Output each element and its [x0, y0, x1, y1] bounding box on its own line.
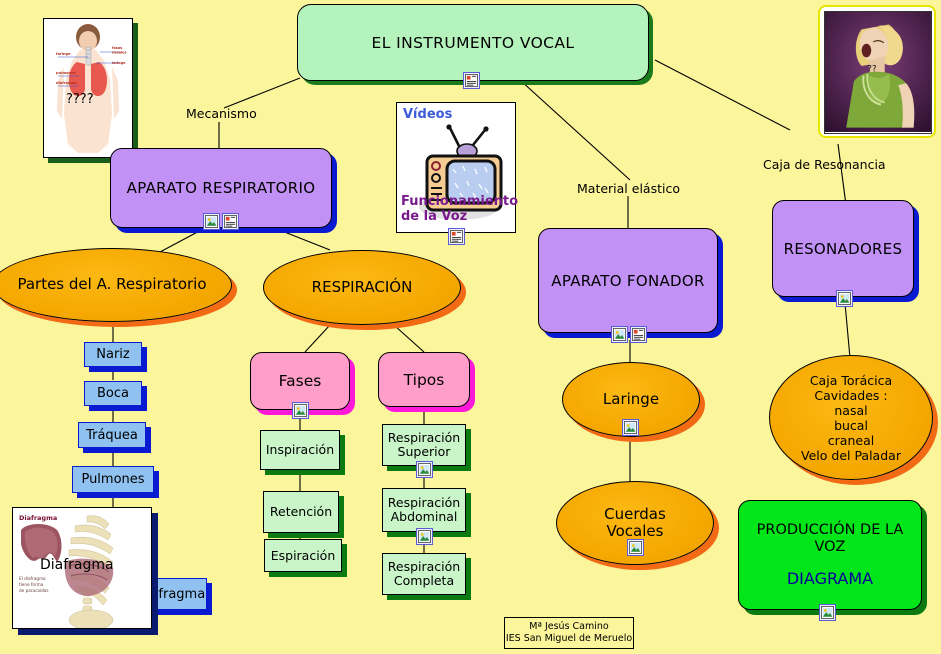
- video-card[interactable]: [396, 102, 516, 233]
- node-el-instrumento-vocal[interactable]: EL INSTRUMENTO VOCAL: [297, 4, 649, 81]
- node-resonadores[interactable]: RESONADORES: [772, 200, 914, 297]
- svg-text:??: ??: [867, 65, 876, 75]
- node-label-line2: Vocales: [607, 523, 664, 540]
- note-icon[interactable]: [630, 326, 647, 343]
- node-aparato-fonador[interactable]: APARATO FONADOR: [538, 228, 718, 333]
- caja-line-4: bucal: [834, 418, 868, 433]
- picture-icon[interactable]: [622, 419, 639, 436]
- node-espiracion[interactable]: Espiración: [264, 539, 342, 572]
- node-produccion-de-la-voz[interactable]: PRODUCCIÓN DE LA VOZ DIAGRAMA: [738, 500, 922, 610]
- note-icon[interactable]: [448, 228, 465, 245]
- node-label: APARATO RESPIRATORIO: [127, 179, 316, 197]
- picture-icon[interactable]: [416, 528, 433, 545]
- svg-text:pulmones: pulmones: [56, 71, 76, 75]
- svg-text:Diafragma: Diafragma: [19, 514, 57, 522]
- respiratory-system-drawing: faringe pulmones diafragma fosas nasales…: [44, 19, 132, 157]
- node-label: Laringe: [603, 391, 659, 408]
- node-label-line1: Respiración: [388, 431, 460, 445]
- node-label: RESONADORES: [784, 240, 903, 258]
- video-resource-icons[interactable]: [448, 228, 465, 245]
- picture-icon[interactable]: [203, 213, 220, 230]
- picture-icon[interactable]: [836, 290, 853, 307]
- node-inspiracion[interactable]: Inspiración: [260, 430, 340, 470]
- resonadores-resource-icons[interactable]: [836, 290, 853, 307]
- node-traquea[interactable]: Tráquea: [78, 422, 146, 448]
- node-label: Fases: [279, 372, 322, 390]
- produccion-subtitle: DIAGRAMA: [787, 569, 873, 589]
- node-label: Tipos: [404, 371, 445, 389]
- picture-icon[interactable]: [416, 461, 433, 478]
- node-label: Pulmones: [81, 472, 144, 487]
- node-label-line2: Superior: [398, 445, 451, 459]
- singing-woman-illustration: ??: [825, 12, 931, 132]
- author-credit: Mª Jesús Camino IES San Miguel de Meruel…: [504, 617, 634, 649]
- picture-icon[interactable]: [292, 402, 309, 419]
- node-label: Espiración: [271, 549, 336, 563]
- node-pulmones[interactable]: Pulmones: [72, 466, 154, 493]
- svg-text:El diafragma: El diafragma: [19, 576, 46, 581]
- node-label: Retención: [270, 505, 332, 519]
- portrait-frame: ??: [824, 11, 932, 134]
- picture-icon[interactable]: [627, 539, 644, 556]
- node-tipos[interactable]: Tipos: [378, 352, 470, 407]
- diaphragm-overlay-text: Diafragma: [40, 557, 114, 573]
- laringe-resource-icons[interactable]: [622, 419, 639, 436]
- svg-text:nasales: nasales: [112, 51, 127, 55]
- node-label-line2: Completa: [394, 574, 454, 588]
- node-respiracion[interactable]: RESPIRACIÓN: [263, 250, 461, 325]
- tv-graphic: [397, 103, 515, 232]
- caja-line-5: craneal: [828, 433, 874, 448]
- caja-line-1: Caja Torácica: [810, 373, 892, 388]
- caja-line-3: nasal: [834, 403, 867, 418]
- aparato-respiratorio-resource-icons[interactable]: [203, 213, 239, 230]
- caja-line-2: Cavidades :: [814, 388, 887, 403]
- node-label: RESPIRACIÓN: [312, 279, 413, 296]
- produccion-resource-icons[interactable]: [819, 604, 836, 621]
- node-caja-toracica-cavidades[interactable]: Caja Torácica Cavidades : nasal bucal cr…: [769, 355, 933, 480]
- node-respiracion-abdominal[interactable]: Respiración Abdominal: [382, 488, 466, 532]
- node-label-line1: Respiración: [388, 496, 460, 510]
- credit-line2: IES San Miguel de Meruelo: [506, 633, 632, 645]
- fases-resource-icons[interactable]: [292, 402, 309, 419]
- node-label: Partes del A. Respiratorio: [17, 276, 206, 293]
- svg-text:de paracaídas: de paracaídas: [19, 588, 49, 593]
- node-title-label: EL INSTRUMENTO VOCAL: [372, 34, 575, 52]
- note-icon[interactable]: [222, 213, 239, 230]
- edge-label-mecanismo: Mecanismo: [186, 106, 257, 121]
- node-boca[interactable]: Boca: [84, 381, 142, 406]
- node-nariz[interactable]: Nariz: [84, 342, 142, 367]
- svg-text:fosas: fosas: [112, 46, 122, 50]
- credit-line1: Mª Jesús Camino: [529, 621, 608, 633]
- node-respiracion-completa[interactable]: Respiración Completa: [382, 553, 466, 595]
- singing-woman-portrait[interactable]: ??: [818, 5, 936, 138]
- picture-icon[interactable]: [819, 604, 836, 621]
- respiratory-system-image[interactable]: faringe pulmones diafragma fosas nasales…: [43, 18, 133, 158]
- node-label: Nariz: [96, 347, 129, 362]
- node-label: Boca: [97, 386, 129, 401]
- svg-text:tiene forma: tiene forma: [19, 582, 44, 587]
- respiracion-abdominal-resource-icons[interactable]: [416, 528, 433, 545]
- svg-text:diafragma: diafragma: [56, 81, 77, 85]
- title-resource-icons[interactable]: [463, 72, 480, 89]
- produccion-title: PRODUCCIÓN DE LA VOZ: [739, 522, 921, 557]
- svg-text:laringe: laringe: [112, 61, 126, 65]
- node-partes-del-aparato-respiratorio[interactable]: Partes del A. Respiratorio: [0, 248, 232, 322]
- node-retencion[interactable]: Retención: [263, 491, 339, 533]
- svg-text:faringe: faringe: [56, 52, 71, 56]
- edge-label-material-elastico: Material elástico: [577, 181, 680, 196]
- concept-map-canvas: Mecanismo Material elástico Caja de Reso…: [0, 0, 941, 654]
- respiracion-superior-resource-icons[interactable]: [416, 461, 433, 478]
- node-respiracion-superior[interactable]: Respiración Superior: [382, 424, 466, 466]
- node-label-line1: Cuerdas: [604, 506, 666, 523]
- cuerdas-vocales-resource-icons[interactable]: [627, 539, 644, 556]
- picture-icon[interactable]: [611, 326, 628, 343]
- svg-text:????: ????: [66, 92, 94, 107]
- node-label: Tráquea: [86, 428, 138, 443]
- node-label-line1: Respiración: [388, 560, 460, 574]
- caja-line-6: Velo del Paladar: [801, 448, 901, 463]
- node-label: Inspiración: [266, 443, 334, 457]
- aparato-fonador-resource-icons[interactable]: [611, 326, 647, 343]
- note-icon[interactable]: [463, 72, 480, 89]
- node-label-line2: Abdominal: [391, 510, 458, 524]
- edge-label-caja-de-resonancia: Caja de Resonancia: [763, 157, 886, 172]
- node-label: APARATO FONADOR: [551, 272, 704, 290]
